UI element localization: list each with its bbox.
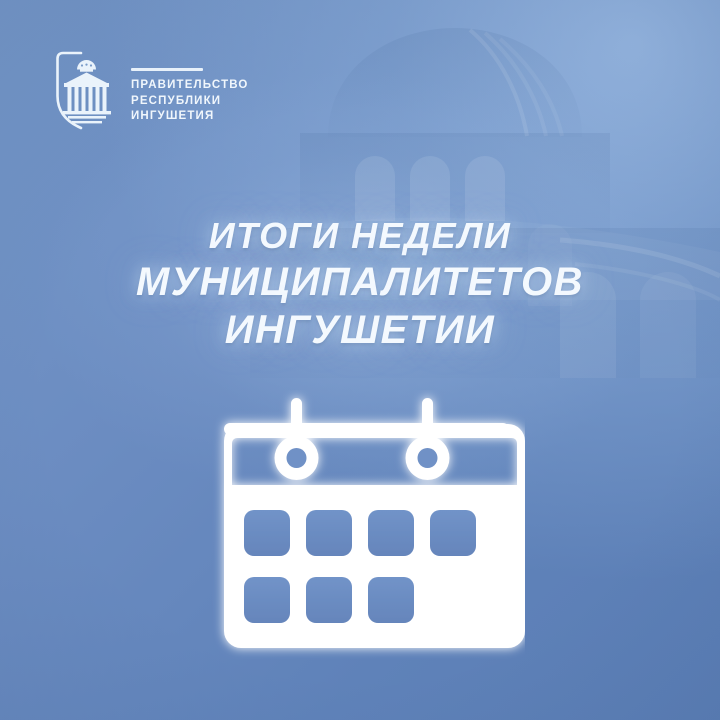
logo-text-block: ПРАВИТЕЛЬСТВО РЕСПУБЛИКИ ИНГУШЕТИЯ <box>131 50 249 125</box>
logo-line-3: ИНГУШЕТИЯ <box>131 109 249 125</box>
logo-line-1: ПРАВИТЕЛЬСТВО <box>131 78 249 94</box>
ingushetia-government-emblem <box>55 50 117 132</box>
poster-canvas: ПРАВИТЕЛЬСТВО РЕСПУБЛИКИ ИНГУШЕТИЯ ИТОГИ… <box>0 0 720 720</box>
logo-line-2: РЕСПУБЛИКИ <box>131 94 249 110</box>
government-logo: ПРАВИТЕЛЬСТВО РЕСПУБЛИКИ ИНГУШЕТИЯ <box>55 50 249 132</box>
headline: ИТОГИ НЕДЕЛИ МУНИЦИПАЛИТЕТОВ ИНГУШЕТИИ <box>0 214 720 354</box>
logo-divider-rule <box>131 68 203 71</box>
calendar-icon <box>195 390 525 665</box>
headline-line-1: ИТОГИ НЕДЕЛИ <box>0 214 720 258</box>
headline-line-2: МУНИЦИПАЛИТЕТОВ ИНГУШЕТИИ <box>0 258 720 354</box>
